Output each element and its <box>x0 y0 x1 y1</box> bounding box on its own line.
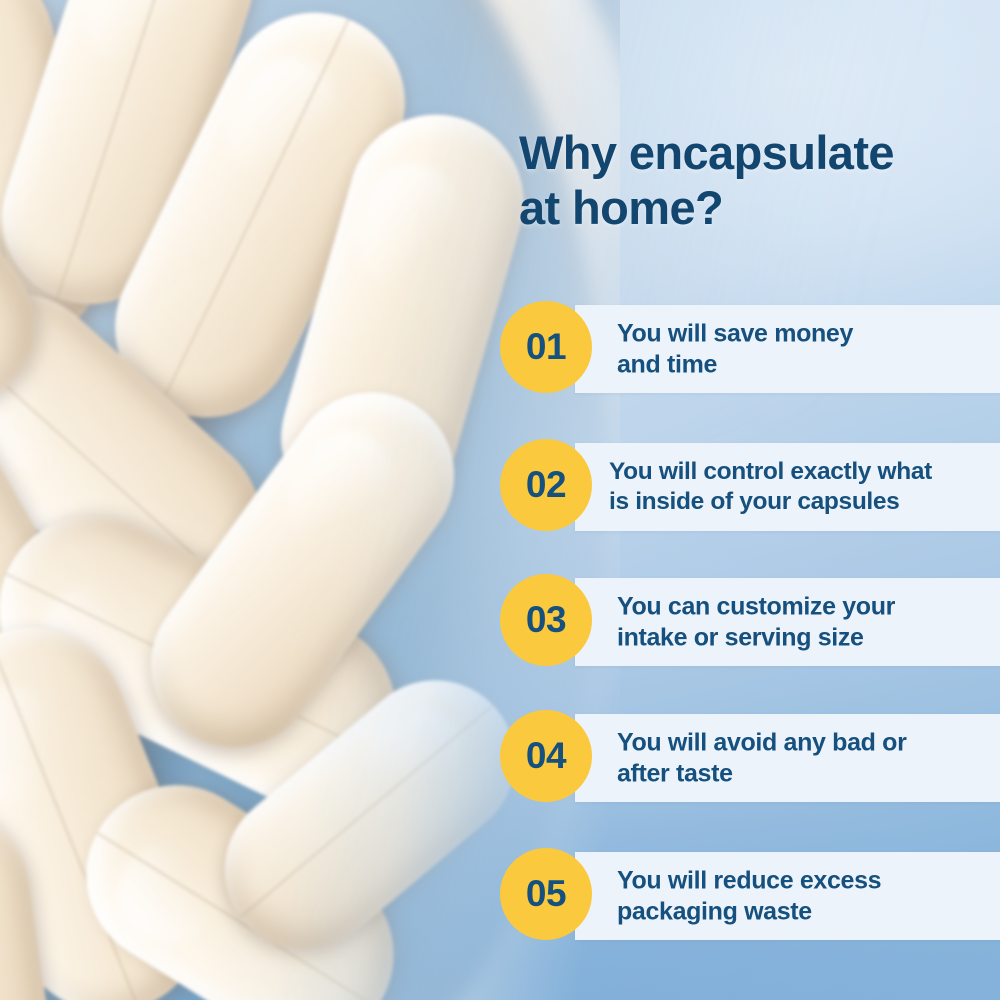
infographic-canvas: Why encapsulateat home? 01 You will save… <box>0 0 1000 1000</box>
list-item-number-badge: 04 <box>500 710 592 802</box>
content-layer: Why encapsulateat home? 01 You will save… <box>0 0 1000 1000</box>
list-item[interactable]: 05 You will reduce excess packaging wast… <box>0 852 1000 940</box>
list-item-text: You will avoid any bad or after taste <box>617 728 986 789</box>
list-item-number-badge: 03 <box>500 574 592 666</box>
list-item-number-badge: 02 <box>500 439 592 531</box>
list-item-text: You will save money and time <box>617 319 986 380</box>
list-item-text: You can customize your intake or serving… <box>617 592 986 653</box>
list-item-number-badge: 05 <box>500 848 592 940</box>
list-item-text: You will control exactly what is inside … <box>609 457 986 517</box>
benefits-list: 01 You will save money and time 02 You w… <box>0 0 1000 1000</box>
list-item[interactable]: 04 You will avoid any bad or after taste <box>0 714 1000 802</box>
list-item-text: You will reduce excess packaging waste <box>617 866 986 927</box>
list-item[interactable]: 01 You will save money and time <box>0 305 1000 393</box>
list-item-number-badge: 01 <box>500 301 592 393</box>
list-item[interactable]: 03 You can customize your intake or serv… <box>0 578 1000 666</box>
list-item[interactable]: 02 You will control exactly what is insi… <box>0 443 1000 531</box>
